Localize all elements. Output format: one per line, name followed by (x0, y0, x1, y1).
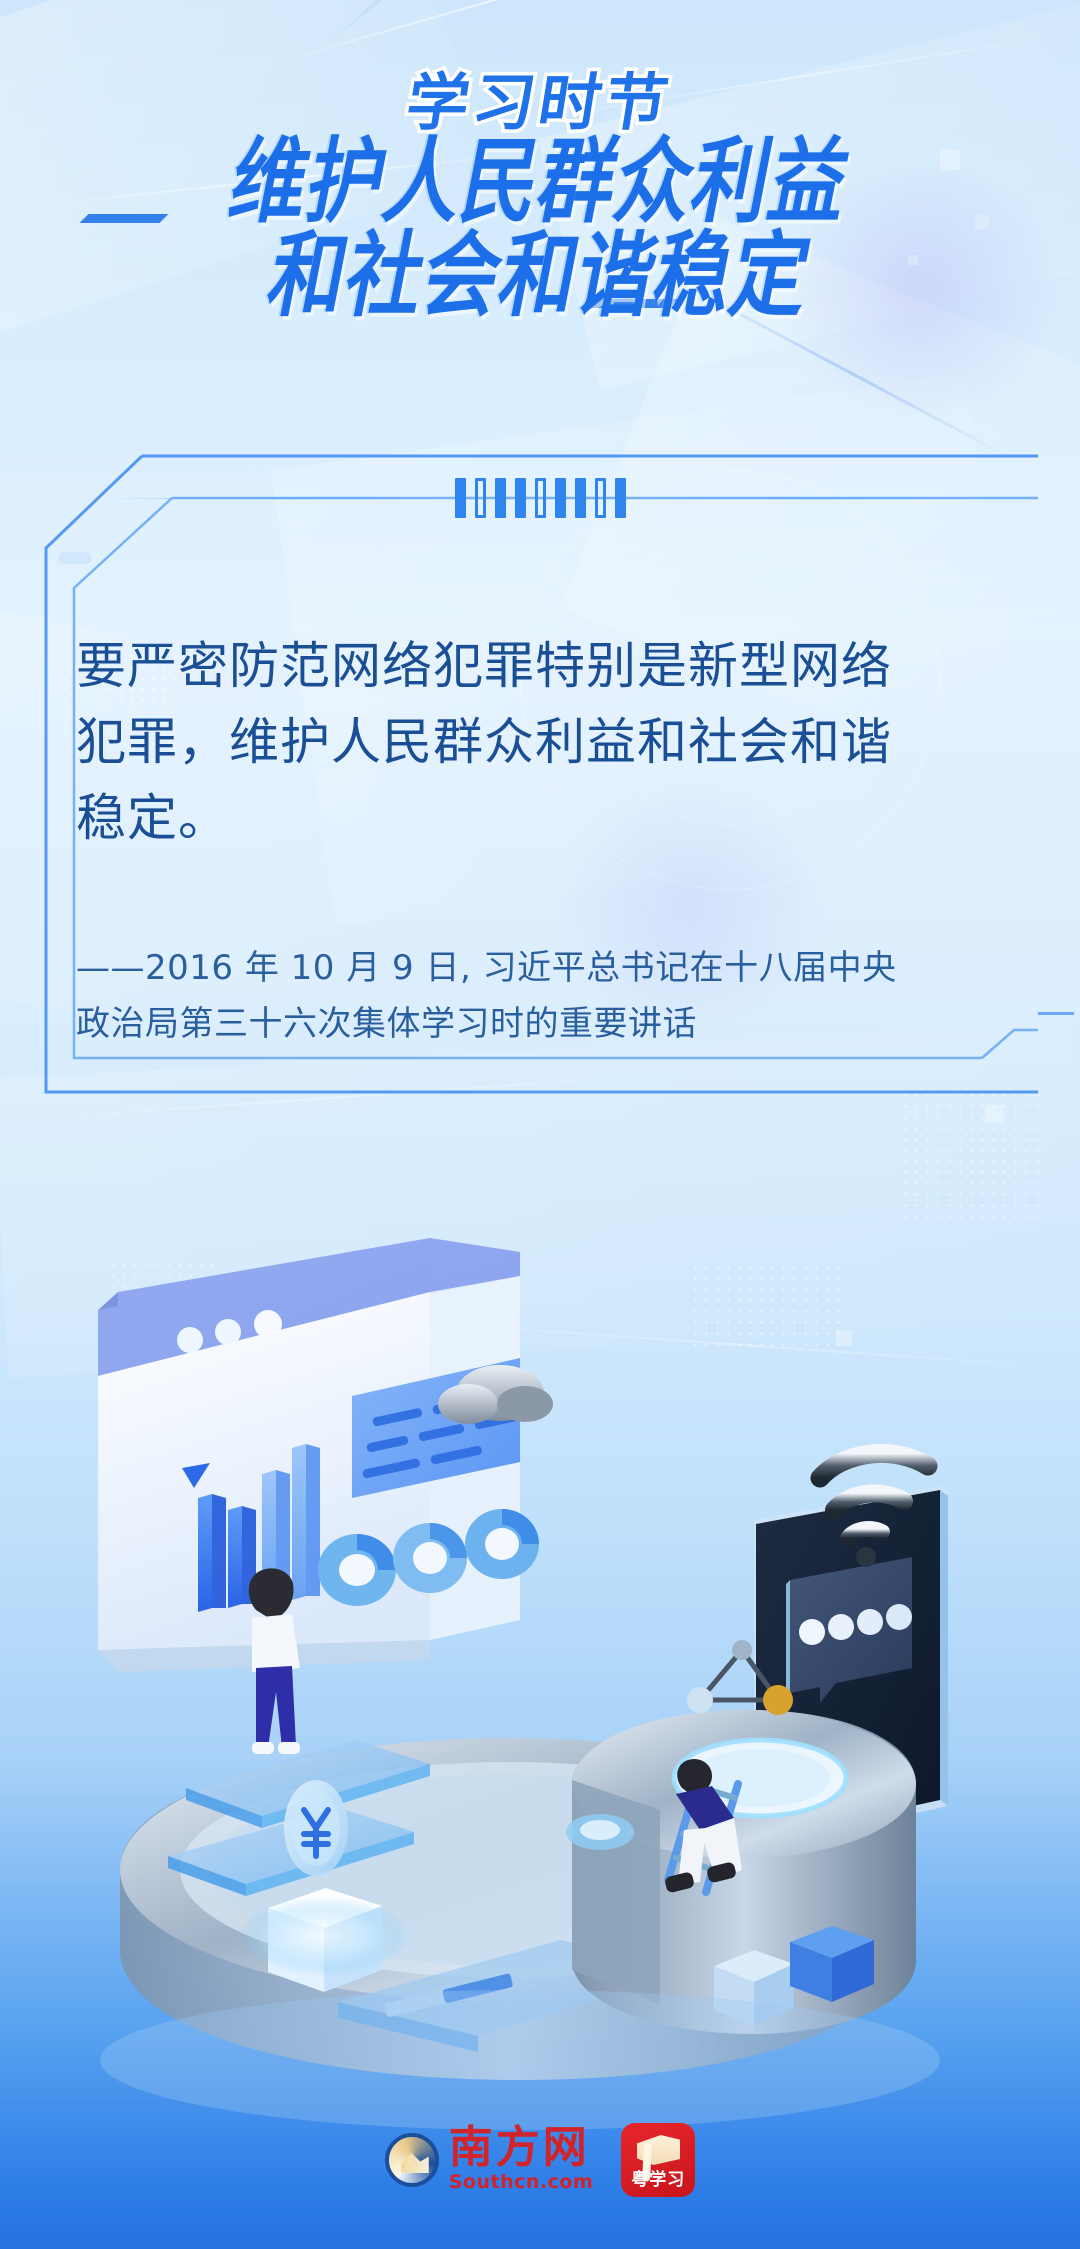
divider-bar (575, 478, 586, 518)
page-title: 维护人民群众利益 和社会和谐稳定 (0, 140, 1080, 318)
quote-attribution: ——2016 年 10 月 9 日, 习近平总书记在十八届中央 政治局第三十六次… (76, 940, 1006, 1052)
yuan-coin-disc (284, 1780, 348, 1876)
divider-bar (555, 478, 566, 518)
divider-bar (595, 478, 606, 518)
poster-root: 学习时节 维护人民群众利益 和社会和谐稳定 要严密防范网络犯罪特 (0, 0, 1080, 2249)
page-title-line-1: 维护人民群众利益 (0, 131, 1080, 233)
southcn-logo-cn: 南方网 (449, 2126, 590, 2170)
yuexuexi-label: 粤学习 (631, 2172, 685, 2189)
quote-line: 犯罪，维护人民群众利益和社会和谐 (76, 704, 1006, 780)
attribution-line: 政治局第三十六次集体学习时的重要讲话 (76, 996, 1006, 1052)
quote-line: 要严密防范网络犯罪特别是新型网络 (76, 628, 1006, 704)
divider-bar (515, 478, 526, 518)
southcn-mark-icon (385, 2133, 439, 2187)
person-standing-on-platform (249, 1568, 300, 1754)
attribution-line: ——2016 年 10 月 9 日, 习近平总书记在十八届中央 (76, 940, 1006, 996)
divider-bar (615, 478, 626, 518)
yuexuexi-book-icon (634, 2135, 680, 2165)
divider-bars (0, 478, 1080, 518)
yuexuexi-logo[interactable]: 粤学习 (621, 2123, 695, 2197)
divider-bar (535, 478, 546, 518)
browser-window-chart-panel (98, 1238, 553, 1672)
southcn-logo-en: Southcn.com (449, 2170, 594, 2194)
divider-bar (475, 478, 486, 518)
footer-logos: 南方网 Southcn.com 粤学习 (0, 2123, 1080, 2197)
quote-text: 要严密防范网络犯罪特别是新型网络 犯罪，维护人民群众利益和社会和谐 稳定。 (76, 628, 1006, 856)
gear-icon-3d (566, 1814, 634, 1850)
page-title-line-2: 和社会和谐稳定 (0, 225, 1080, 327)
illustration-3d-scene (0, 1180, 1080, 2050)
divider-bar (455, 478, 466, 518)
quote-line: 稳定。 (76, 780, 1006, 856)
divider-bar (495, 478, 506, 518)
southcn-logo[interactable]: 南方网 Southcn.com (385, 2126, 594, 2194)
